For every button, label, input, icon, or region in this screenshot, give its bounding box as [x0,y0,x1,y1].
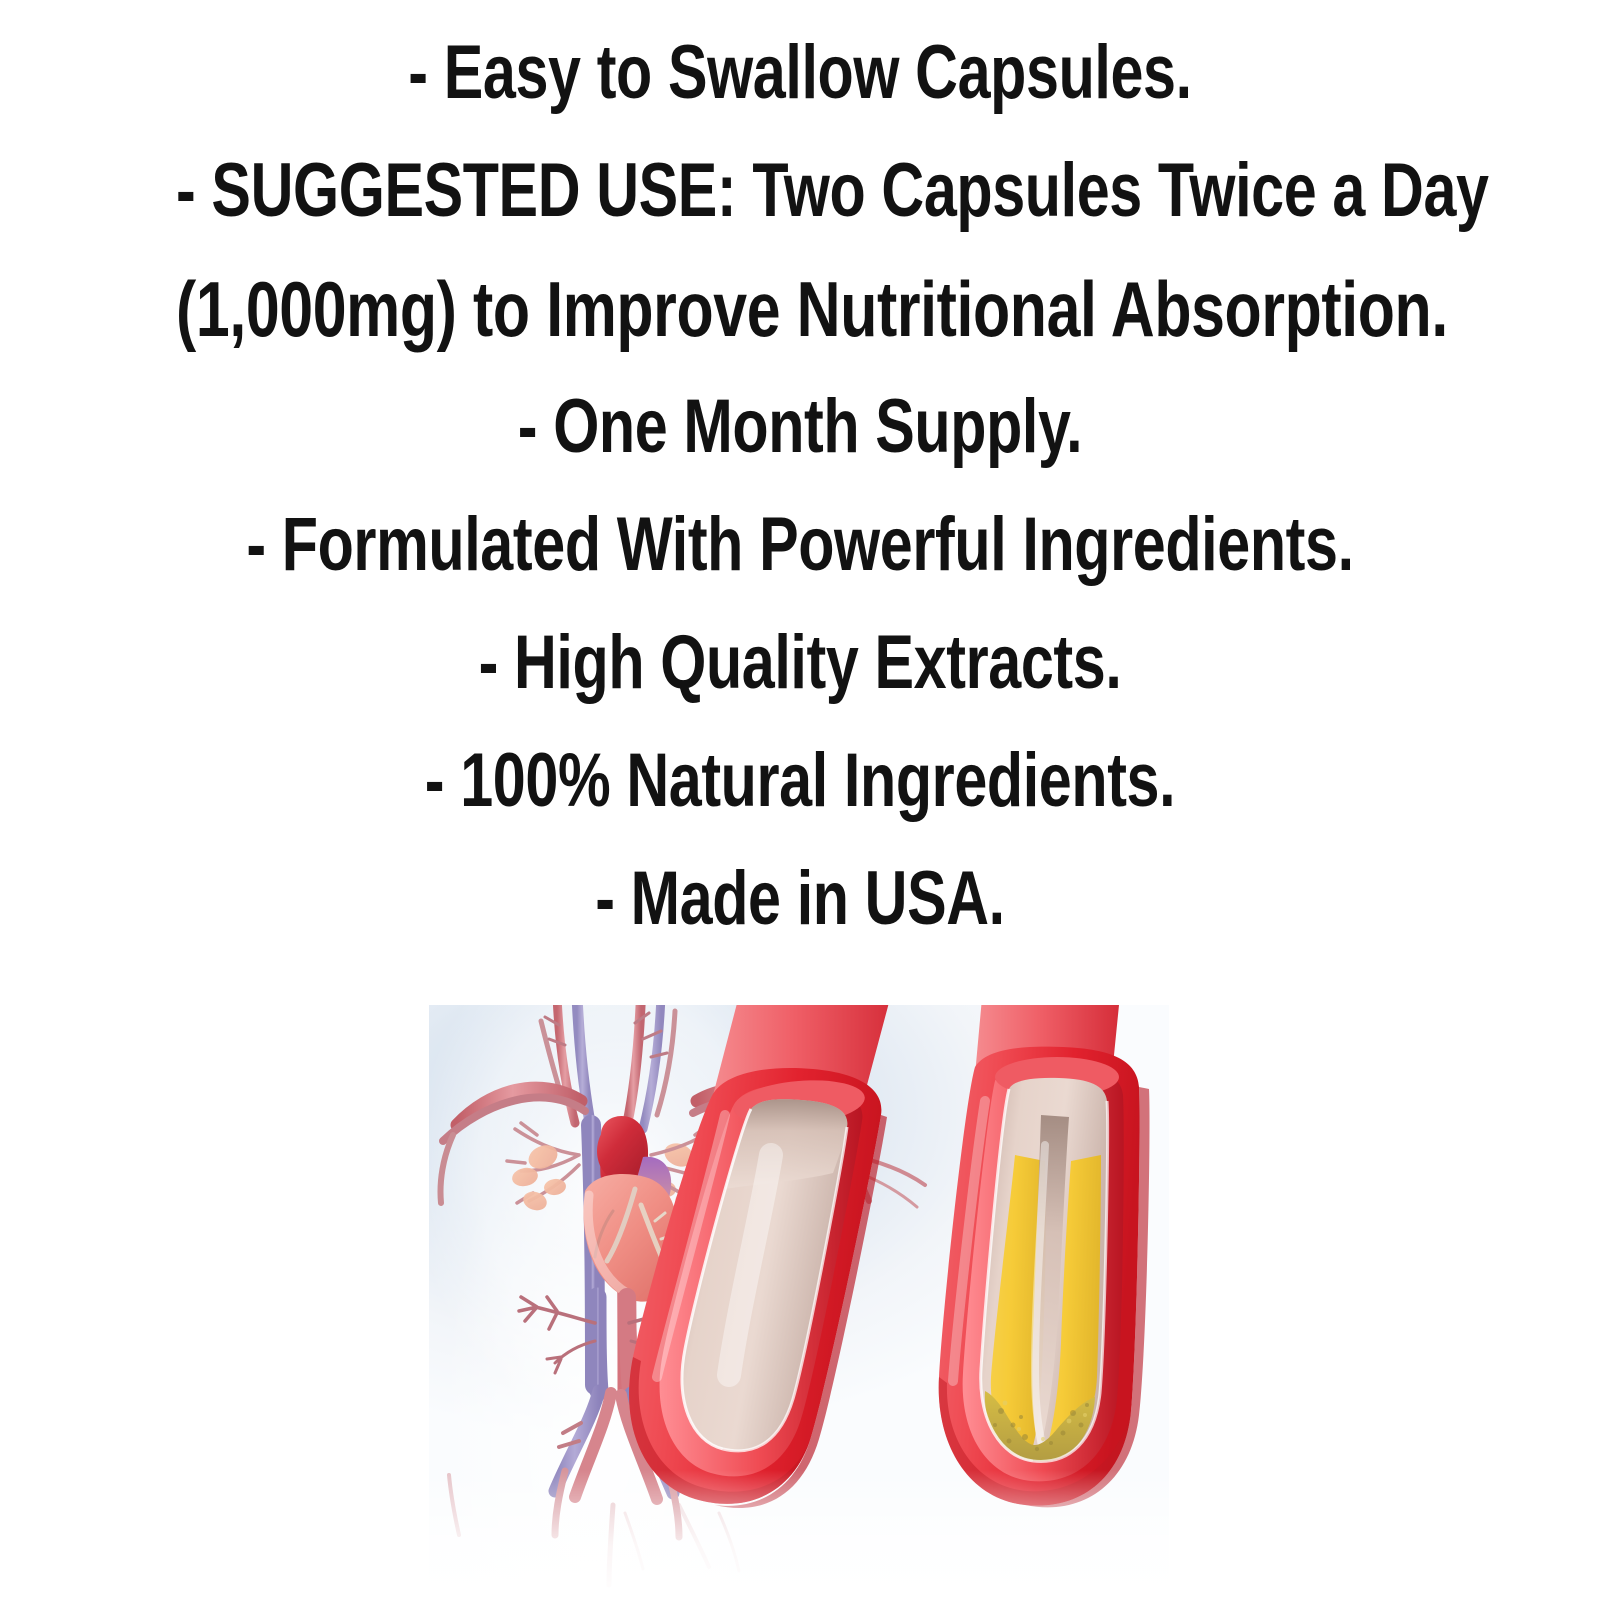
bullet-line-easy-to-swallow: - Easy to Swallow Capsules. [176,14,1424,132]
artery-cross-sections [429,1005,1169,1600]
bullet-line-natural-ingredients: - 100% Natural Ingredients. [176,722,1424,840]
clogged-artery-with-plaque [939,1005,1150,1507]
bullet-line-high-quality-extracts: - High Quality Extracts. [176,604,1424,722]
healthy-artery [629,1005,899,1508]
bullet-line-one-month-supply: - One Month Supply. [176,368,1424,486]
artery-comparison-illustration [429,1005,1169,1600]
bullet-line-dosage-absorption: (1,000mg) to Improve Nutritional Absorpt… [176,250,1424,368]
feature-bullet-list: - Easy to Swallow Capsules. - SUGGESTED … [0,0,1600,980]
bullet-line-suggested-use: - SUGGESTED USE: Two Capsules Twice a Da… [176,132,1424,250]
bullet-line-powerful-ingredients: - Formulated With Powerful Ingredients. [176,486,1424,604]
product-feature-page: - Easy to Swallow Capsules. - SUGGESTED … [0,0,1600,1600]
background-vessel-wisps [625,1505,739,1571]
bullet-line-made-in-usa: - Made in USA. [176,840,1424,958]
